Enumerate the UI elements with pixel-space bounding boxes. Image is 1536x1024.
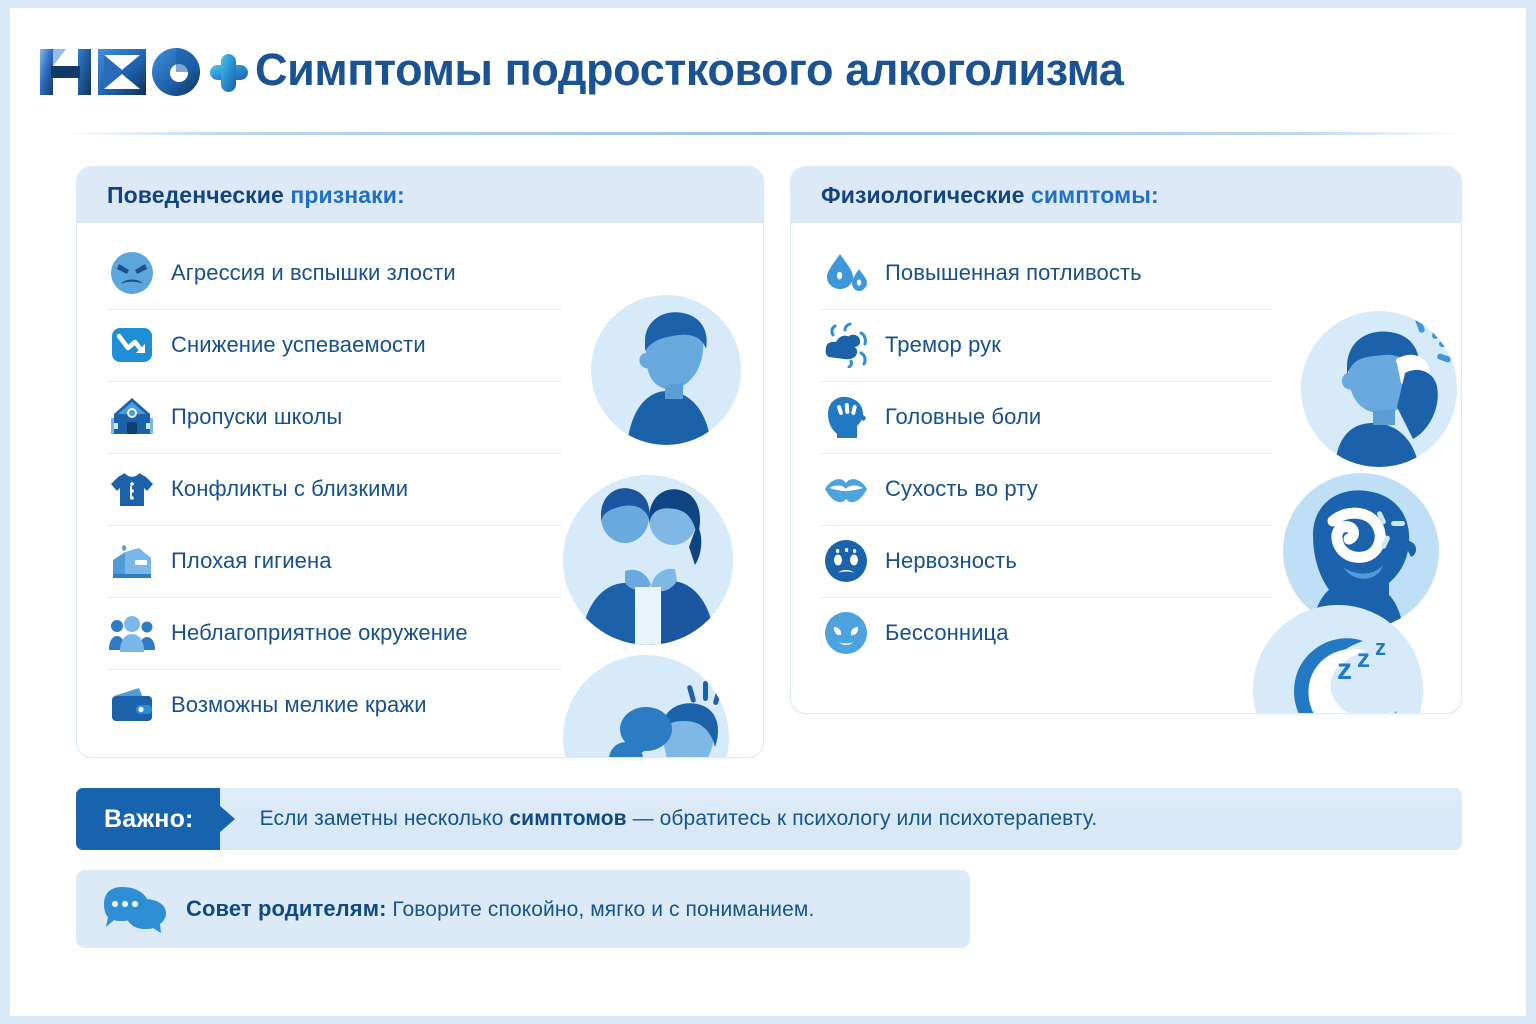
tshirt-icon: [107, 464, 157, 514]
list-item[interactable]: Бессонница: [791, 597, 1461, 669]
list-item[interactable]: Конфликты с близкими: [77, 453, 763, 525]
list-item[interactable]: Тремор рук: [791, 309, 1461, 381]
page-title: Симптомы подросткового алкоголизма: [255, 44, 1124, 96]
shaking-hand-icon: [821, 320, 871, 370]
advice-banner: Совет родителям: Говорите спокойно, мягк…: [76, 870, 970, 948]
list-item-label: Повышенная потливость: [885, 260, 1142, 286]
soap-bar-icon: [107, 536, 157, 586]
lips-icon: [821, 464, 871, 514]
sleepless-face-icon: [821, 608, 871, 658]
wallet-icon: [107, 680, 157, 730]
important-tag: Важно:: [76, 788, 220, 850]
panel-physiological-title: Физиологические симптомы:: [821, 182, 1159, 209]
list-item[interactable]: Плохая гигиена: [77, 525, 763, 597]
list-item-label: Конфликты с близкими: [171, 476, 408, 502]
list-item[interactable]: Сухость во рту: [791, 453, 1461, 525]
list-item[interactable]: Неблагоприятное окружение: [77, 597, 763, 669]
logo-letter-n: [40, 49, 91, 95]
list-item-label: Снижение успеваемости: [171, 332, 426, 358]
brand-logo: [38, 41, 248, 103]
list-item-label: Головные боли: [885, 404, 1041, 430]
header-divider: [62, 132, 1462, 135]
list-item-label: Пропуски школы: [171, 404, 342, 430]
list-item-label: Тремор рук: [885, 332, 1001, 358]
chevron-right-icon: [219, 805, 235, 833]
panel-behavioral-title: Поведенческие признаки:: [107, 182, 405, 209]
important-banner: Важно: Если заметны несколько симптомов …: [76, 788, 1462, 850]
list-item[interactable]: Пропуски школы: [77, 381, 763, 453]
list-item-label: Агрессия и вспышки злости: [171, 260, 456, 286]
panel-behavioral-body: Агрессия и вспышки злости Снижение успев…: [77, 223, 763, 757]
head-pain-icon: [821, 392, 871, 442]
logo-letter-o: [152, 48, 200, 96]
list-item-label: Сухость во рту: [885, 476, 1038, 502]
infographic-poster: Симптомы подросткового алкоголизма Повед…: [10, 8, 1526, 1016]
list-item-label: Плохая гигиена: [171, 548, 332, 574]
list-item-label: Неблагоприятное окружение: [171, 620, 468, 646]
list-item[interactable]: Снижение успеваемости: [77, 309, 763, 381]
group-people-icon: [107, 608, 157, 658]
school-building-icon: [107, 392, 157, 442]
logo-letter-e: [98, 49, 146, 95]
panel-physiological-header: Физиологические симптомы:: [791, 167, 1461, 223]
worried-face-icon: [821, 536, 871, 586]
list-item[interactable]: Возможны мелкие кражи: [77, 669, 763, 741]
behavioral-item-list: Агрессия и вспышки злости Снижение успев…: [77, 237, 763, 741]
physiological-item-list: Повышенная потливость: [791, 237, 1461, 669]
panel-behavioral-header: Поведенческие признаки:: [77, 167, 763, 223]
list-item-label: Нервозность: [885, 548, 1017, 574]
logo-plus-icon: [210, 54, 248, 92]
panel-physiological-symptoms: Физиологические симптомы:: [790, 166, 1462, 714]
water-drops-icon: [821, 248, 871, 298]
important-tag-label: Важно:: [104, 805, 194, 834]
list-item[interactable]: Головные боли: [791, 381, 1461, 453]
advice-text: Совет родителям: Говорите спокойно, мягк…: [186, 896, 814, 922]
list-item[interactable]: Повышенная потливость: [791, 237, 1461, 309]
list-item-label: Бессонница: [885, 620, 1009, 646]
chat-bubbles-icon: [104, 883, 166, 935]
panel-behavioral-signs: Поведенческие признаки:: [76, 166, 764, 758]
list-item[interactable]: Агрессия и вспышки злости: [77, 237, 763, 309]
important-text: Если заметны несколько симптомов — обрат…: [260, 807, 1098, 831]
panel-physiological-body: z z z Повышен: [791, 223, 1461, 713]
list-item[interactable]: Нервозность: [791, 525, 1461, 597]
angry-face-icon: [107, 248, 157, 298]
chart-down-icon: [107, 320, 157, 370]
header: Симптомы подросткового алкоголизма: [10, 8, 1526, 136]
list-item-label: Возможны мелкие кражи: [171, 692, 427, 718]
